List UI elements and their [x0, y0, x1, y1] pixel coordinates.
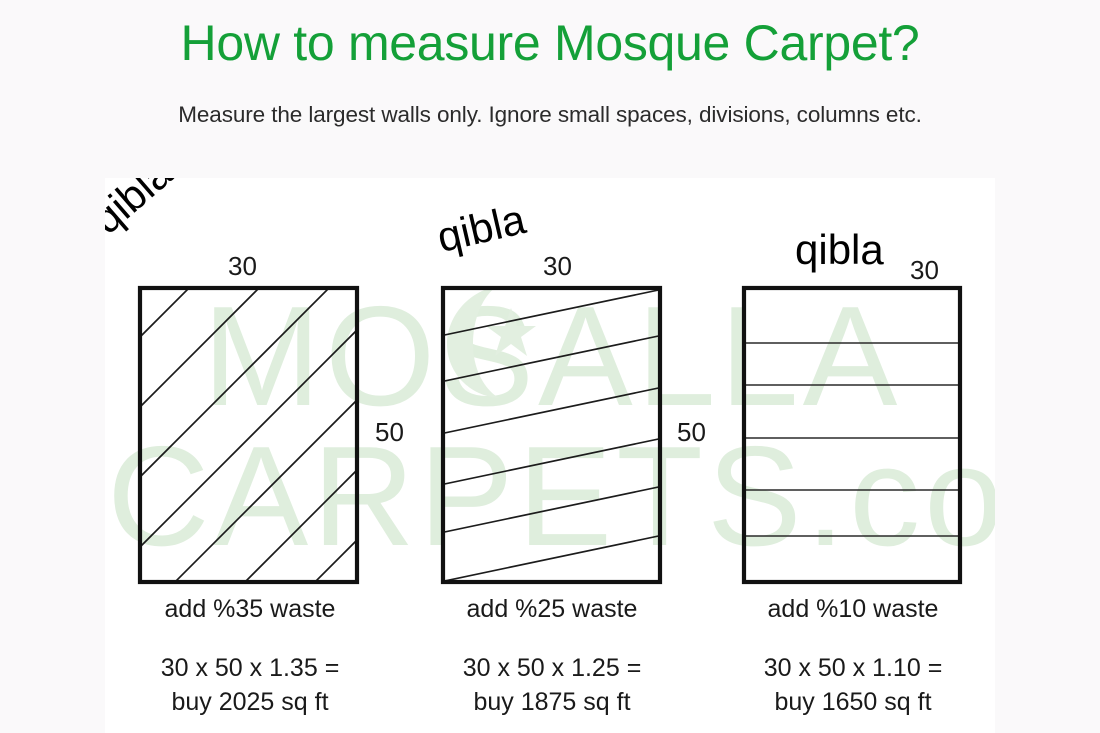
qibla-label-3: qibla	[795, 228, 884, 272]
caption-3: add %10 waste	[707, 593, 995, 626]
calc-line1-3: 30 x 50 x 1.10 =	[707, 651, 995, 685]
width-label-2: 30	[543, 252, 572, 280]
diagram-panel: MOSALLA CARPETS.com	[105, 178, 995, 733]
caption-1: add %35 waste	[105, 593, 395, 626]
calc-line1-2: 30 x 50 x 1.25 =	[405, 651, 699, 685]
caption-2: add %25 waste	[405, 593, 699, 626]
calc-line2-3: buy 1650 sq ft	[707, 685, 995, 719]
stripe-group-3	[744, 343, 960, 536]
calc-line2-1: buy 2025 sq ft	[105, 685, 395, 719]
calc-line2-2: buy 1875 sq ft	[405, 685, 699, 719]
width-label-3: 30	[910, 256, 939, 284]
width-label-1: 30	[228, 252, 257, 280]
stripe-group-2	[435, 288, 668, 583]
room-rect-2	[443, 288, 660, 582]
infographic-root: How to measure Mosque Carpet? Measure th…	[0, 0, 1100, 733]
page-title: How to measure Mosque Carpet?	[0, 14, 1100, 72]
height-label-2: 50	[677, 418, 706, 446]
calc-line1-1: 30 x 50 x 1.35 =	[105, 651, 395, 685]
room-rect-3	[744, 288, 960, 582]
room-rect-1	[140, 288, 357, 582]
page-subtitle: Measure the largest walls only. Ignore s…	[0, 100, 1100, 130]
height-label-1: 50	[375, 418, 404, 446]
stripe-group-1	[105, 178, 889, 733]
